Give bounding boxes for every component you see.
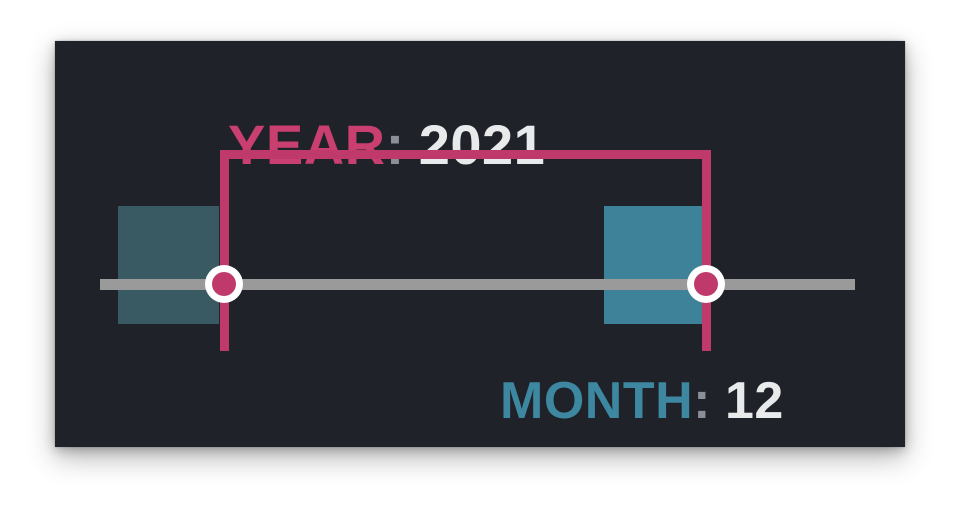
app-root: YEAR:2021 MONTH:12 [0,0,960,515]
month-label-key: MONTH [500,372,693,430]
histogram-bar-unselected[interactable] [118,206,219,324]
month-value: 12 [725,372,784,430]
selection-bracket-top [220,150,711,159]
month-label-separator: : [693,372,711,430]
histogram-bar-selected[interactable] [604,206,707,324]
widget-panel: YEAR:2021 MONTH:12 [55,41,905,447]
range-end-handle-knob [694,272,718,296]
range-end-handle[interactable] [687,265,725,303]
range-start-handle[interactable] [205,265,243,303]
month-label-row: MONTH:12 [500,375,784,427]
range-start-handle-knob [212,272,236,296]
